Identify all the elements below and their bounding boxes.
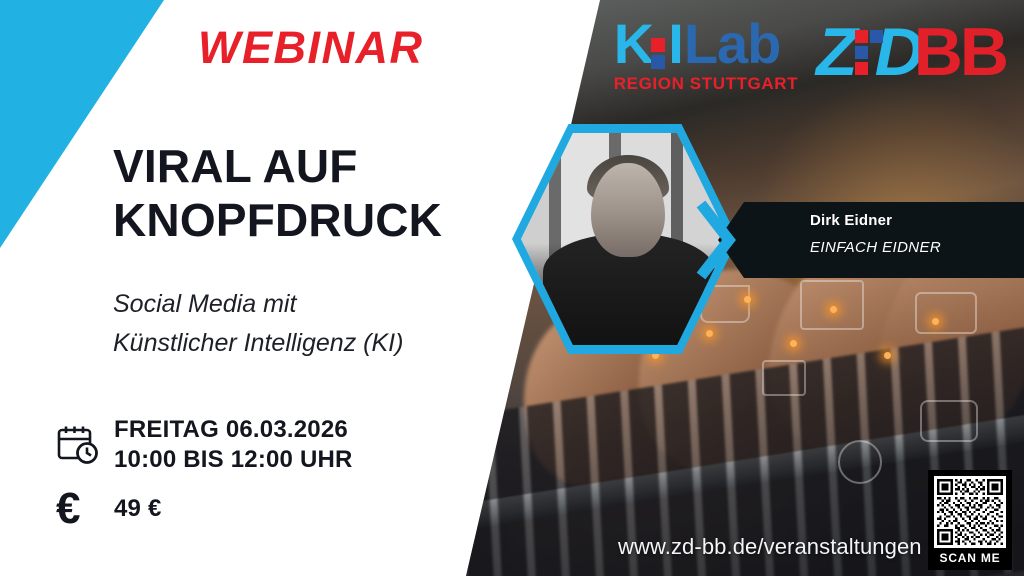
page-title: VIRAL AUF KNOPFDRUCK <box>113 140 513 248</box>
price-tag-icon <box>762 360 806 396</box>
title-line-1: VIRAL AUF <box>113 140 513 194</box>
kilab-logo: K I Lab REGION STUTTGART <box>614 16 798 94</box>
price-text: 49 € <box>114 494 162 524</box>
kilab-tagline: REGION STUTTGART <box>614 74 798 94</box>
euro-glyph: € <box>56 487 80 531</box>
page-subtitle: Social Media mit Künstlicher Intelligenz… <box>113 285 513 363</box>
chat-bubble-icon <box>920 400 978 442</box>
kilab-letter-k: K <box>614 16 653 72</box>
kilab-letters-lab: Lab <box>684 16 781 72</box>
kilab-red-square <box>651 38 665 52</box>
credit-card-icon <box>915 292 977 334</box>
portrait-face <box>591 163 665 257</box>
network-node-icon <box>838 440 882 484</box>
date-line: FREITAG 06.03.2026 <box>114 415 353 445</box>
qr-code-block[interactable]: SCAN ME <box>928 470 1012 570</box>
speaker-info: Dirk Eidner EINFACH EIDNER <box>810 212 941 256</box>
zdbb-square-group <box>855 28 875 86</box>
store-icon <box>800 280 864 330</box>
calendar-clock-icon <box>56 424 114 466</box>
qr-code-icon[interactable] <box>934 476 1006 548</box>
zdbb-blue-square <box>870 30 883 43</box>
qr-scan-label: SCAN ME <box>940 548 1001 568</box>
spark-dot <box>932 318 939 325</box>
kilab-letter-i: I <box>668 16 684 72</box>
title-line-2: KNOPFDRUCK <box>113 194 513 248</box>
zdbb-letters-bb: BB <box>914 18 1006 86</box>
kilab-wordmark: K I Lab <box>614 16 798 72</box>
zdbb-letter-z: Z <box>816 18 855 86</box>
time-line: 10:00 BIS 12:00 UHR <box>114 445 353 475</box>
spark-dot <box>744 296 751 303</box>
zdbb-red-square <box>855 30 868 43</box>
spark-dot <box>830 306 837 313</box>
kilab-blue-square <box>651 55 665 69</box>
chevron-right-icon <box>695 200 737 280</box>
zdbb-red-square <box>855 62 868 75</box>
euro-icon: € <box>56 487 114 531</box>
kilab-square-group <box>651 20 666 72</box>
zdbb-blue-square <box>855 46 868 59</box>
date-time-text: FREITAG 06.03.2026 10:00 BIS 12:00 UHR <box>114 415 353 475</box>
subtitle-line-2: Künstlicher Intelligenz (KI) <box>113 324 513 363</box>
logo-group: K I Lab REGION STUTTGART Z D BB <box>614 16 1006 94</box>
subtitle-line-1: Social Media mit <box>113 285 513 324</box>
spark-dot <box>790 340 797 347</box>
price-info-row: € 49 € <box>56 487 162 531</box>
zdbb-logo: Z D BB <box>816 18 1006 86</box>
speaker-name: Dirk Eidner <box>810 212 941 229</box>
webinar-poster: K I Lab REGION STUTTGART Z D BB WEBIN <box>0 0 1024 576</box>
spark-dot <box>884 352 891 359</box>
speaker-organization: EINFACH EIDNER <box>810 239 941 256</box>
date-info-row: FREITAG 06.03.2026 10:00 BIS 12:00 UHR <box>56 415 353 475</box>
website-url[interactable]: www.zd-bb.de/veranstaltungen <box>618 534 922 560</box>
webinar-kicker: WEBINAR <box>198 22 423 74</box>
